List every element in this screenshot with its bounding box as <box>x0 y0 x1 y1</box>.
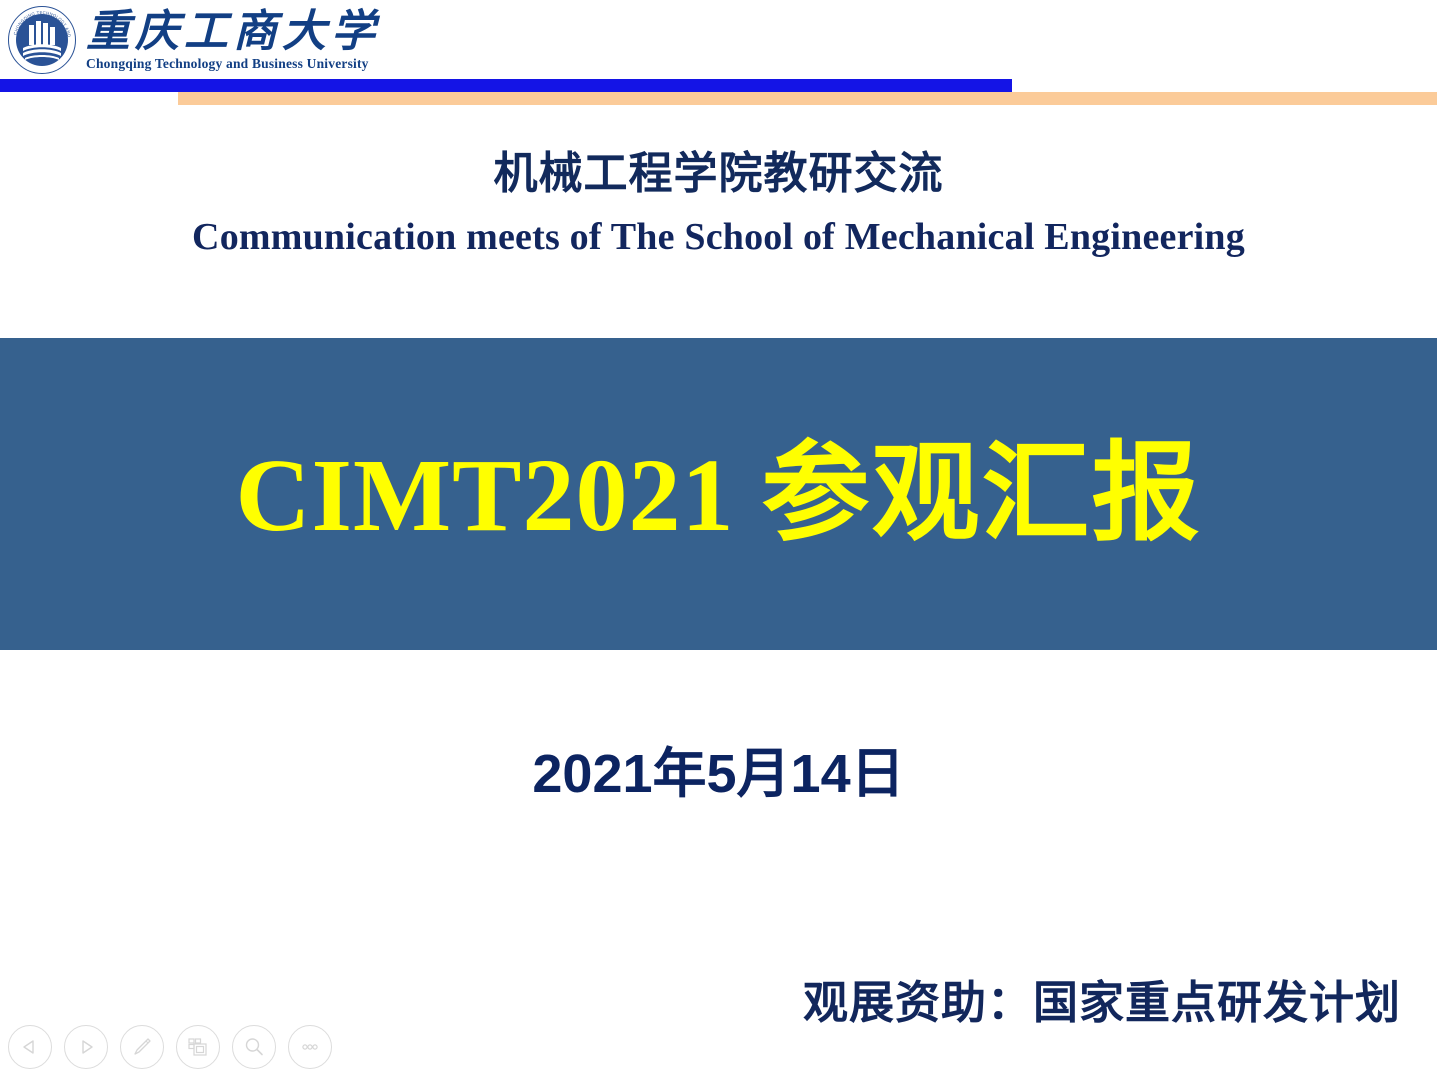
pen-icon <box>130 1035 154 1059</box>
pen-tool-button[interactable] <box>120 1025 164 1069</box>
slides-grid-icon <box>186 1035 210 1059</box>
university-logo: CHONGQING TECHNOLOGY AND BUSINESS UNIVER… <box>8 2 380 78</box>
triangle-left-icon <box>20 1037 40 1057</box>
previous-slide-button[interactable] <box>8 1025 52 1069</box>
zoom-button[interactable] <box>232 1025 276 1069</box>
main-title: CIMT2021 参观汇报 <box>235 438 1201 551</box>
seal-emblem <box>16 14 68 66</box>
university-name-cn: 重庆工商大学 <box>86 9 380 55</box>
meeting-title-en: Communication meets of The School of Mec… <box>0 214 1437 260</box>
more-options-button[interactable] <box>288 1025 332 1069</box>
magnifier-icon <box>242 1035 266 1059</box>
main-title-banner: CIMT2021 参观汇报 <box>0 338 1437 650</box>
slideshow-toolbar <box>8 1025 332 1069</box>
main-title-cn: 参观汇报 <box>762 432 1202 553</box>
divider-blue <box>0 79 1012 92</box>
triangle-right-icon <box>76 1037 96 1057</box>
university-seal-icon: CHONGQING TECHNOLOGY AND BUSINESS UNIVER… <box>8 6 76 74</box>
presentation-slide: CHONGQING TECHNOLOGY AND BUSINESS UNIVER… <box>0 0 1437 1075</box>
presentation-date-text: 2021年5月14日 <box>532 744 904 804</box>
slide-overview-button[interactable] <box>176 1025 220 1069</box>
main-title-latin: CIMT2021 <box>235 438 734 553</box>
divider-orange <box>178 92 1437 105</box>
university-name-en: Chongqing Technology and Business Univer… <box>86 56 380 72</box>
sponsor-note: 观展资助：国家重点研发计划 <box>803 975 1401 1031</box>
next-slide-button[interactable] <box>64 1025 108 1069</box>
logo-wordmark: 重庆工商大学 Chongqing Technology and Business… <box>86 9 380 72</box>
meeting-title-cn: 机械工程学院教研交流 <box>0 148 1437 200</box>
ellipsis-icon <box>298 1035 322 1059</box>
presentation-date: 2021年5月14日 <box>0 742 1437 806</box>
